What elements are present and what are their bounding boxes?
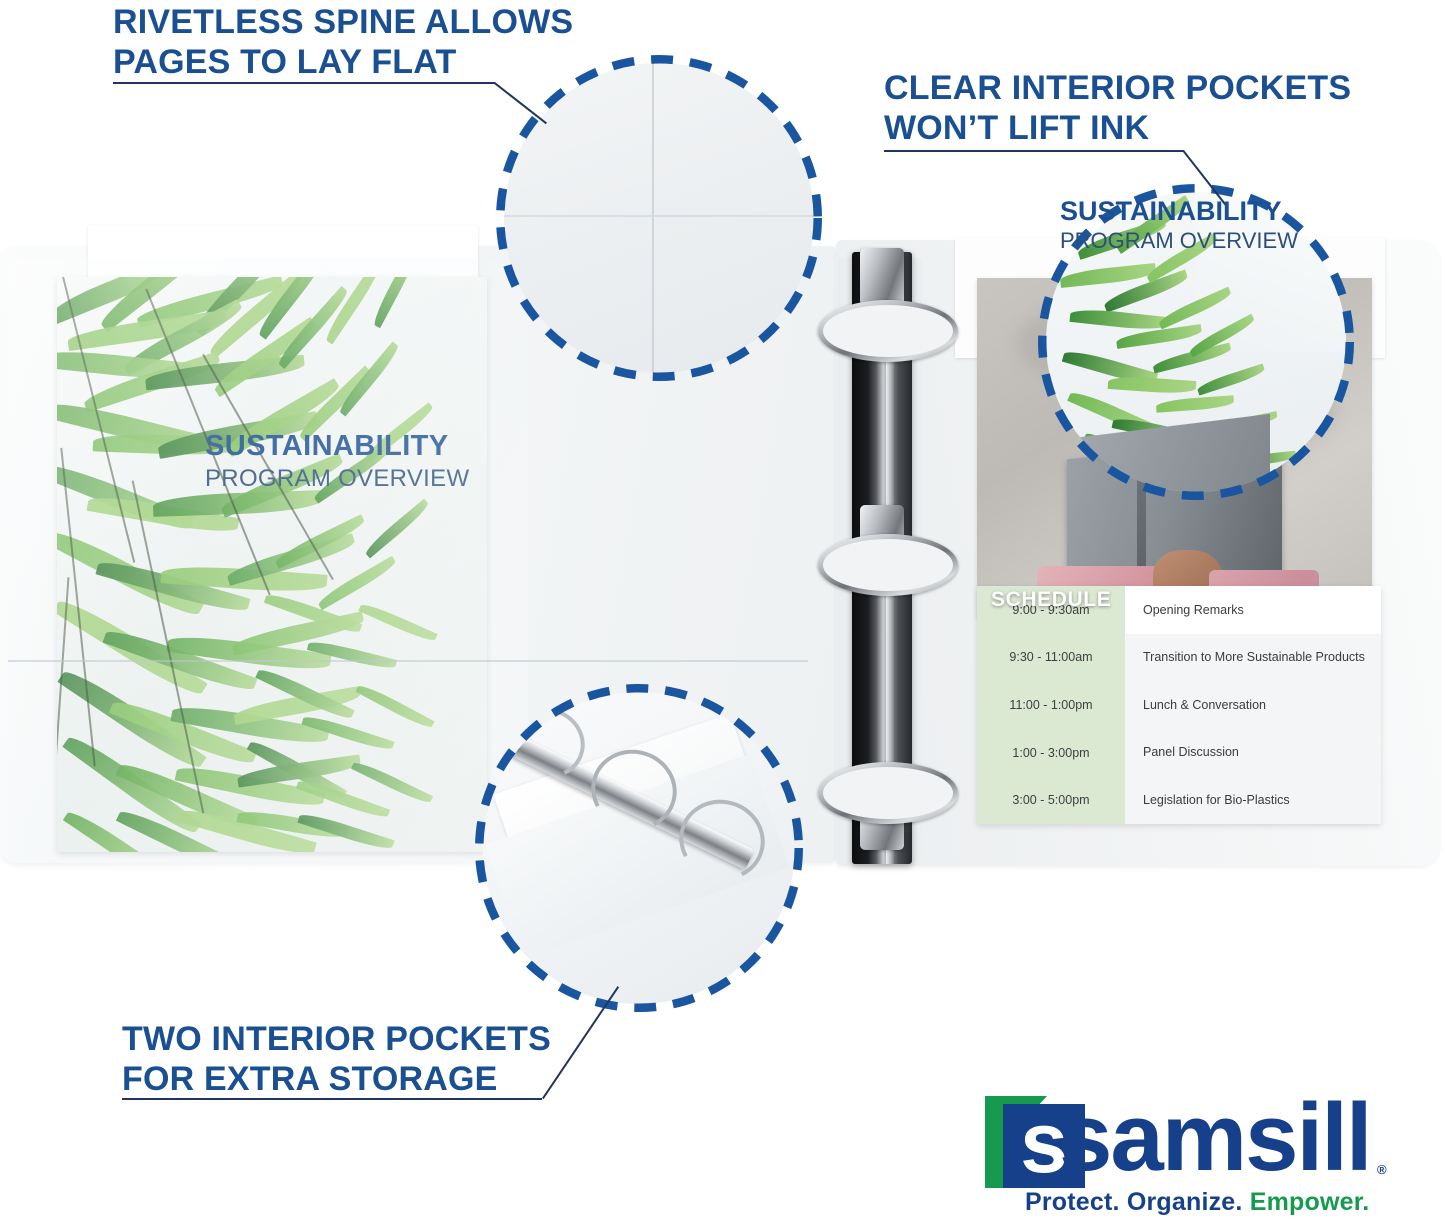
- leader-line-top-left-angle: [494, 82, 547, 124]
- callout-label-two-pockets: TWO INTERIOR POCKETS FOR EXTRA STORAGE: [122, 1019, 551, 1099]
- leader-line-top-left: [113, 82, 495, 84]
- logo-registered-mark: ®: [1377, 1162, 1387, 1177]
- schedule-table: 9:00 - 9:30amOpening Remarks9:30 - 11:00…: [977, 586, 1381, 824]
- callout-label-clear-pockets: CLEAR INTERIOR POCKETS WON’T LIFT INK: [884, 68, 1351, 148]
- right-page-title-line2: PROGRAM OVERVIEW: [1060, 228, 1298, 254]
- schedule-time: 11:00 - 1:00pm: [977, 681, 1125, 729]
- schedule-row: 1:00 - 3:00pmPanel Discussion: [977, 729, 1381, 777]
- cover-title: SUSTAINABILITY PROGRAM OVERVIEW: [205, 430, 475, 493]
- dashed-circle-bottom-center: [475, 684, 803, 1012]
- right-page-title-line1: SUSTAINABILITY: [1060, 196, 1298, 227]
- ring-clip-top: [860, 248, 904, 306]
- binder-ring-3: [818, 762, 958, 824]
- schedule-item: Transition to More Sustainable Products: [1125, 634, 1381, 682]
- callout-label-rivetless-spine: RIVETLESS SPINE ALLOWS PAGES TO LAY FLAT: [113, 2, 573, 82]
- schedule-item: Panel Discussion: [1125, 729, 1381, 777]
- bamboo-leaf: [358, 601, 437, 644]
- schedule-heading: SCHEDULE: [991, 588, 1111, 612]
- bamboo-leaf: [316, 556, 398, 610]
- schedule-row: 9:30 - 11:00amTransition to More Sustain…: [977, 634, 1381, 682]
- bamboo-artwork: [57, 277, 487, 852]
- binder-ring-1: [818, 300, 958, 362]
- left-cover-insert: SUSTAINABILITY PROGRAM OVERVIEW: [57, 277, 487, 852]
- leader-line-bottom-left-angle: [542, 986, 619, 1099]
- cover-title-line1: SUSTAINABILITY: [205, 430, 475, 463]
- schedule-item: Lunch & Conversation: [1125, 681, 1381, 729]
- samsill-logo: s samsill ® Protect. Organize. Empower.: [985, 1096, 1405, 1221]
- schedule-card: 9:00 - 9:30amOpening Remarks9:30 - 11:00…: [977, 586, 1381, 824]
- schedule-item: Opening Remarks: [1125, 586, 1381, 634]
- bamboo-leaf: [363, 499, 431, 559]
- bamboo-leaf: [336, 341, 402, 416]
- bamboo-leaf: [355, 682, 434, 731]
- binder-ring-2: [818, 534, 958, 596]
- product-feature-image: SUSTAINABILITY PROGRAM OVERVIEW 9:00 - 9…: [0, 0, 1445, 1227]
- schedule-time: 3:00 - 5:00pm: [977, 776, 1125, 824]
- schedule-item: Legislation for Bio-Plastics: [1125, 776, 1381, 824]
- schedule-time: 1:00 - 3:00pm: [977, 729, 1125, 777]
- logo-tagline-blue: Protect. Organize.: [1025, 1188, 1243, 1216]
- pocket-edge-line: [8, 660, 808, 662]
- logo-tagline-green: Empower.: [1250, 1188, 1370, 1216]
- schedule-row: 3:00 - 5:00pmLegislation for Bio-Plastic…: [977, 776, 1381, 824]
- bamboo-leaf: [370, 277, 419, 328]
- right-page-title: SUSTAINABILITY PROGRAM OVERVIEW: [1060, 196, 1298, 254]
- schedule-row: 11:00 - 1:00pmLunch & Conversation: [977, 681, 1381, 729]
- schedule-time: 9:30 - 11:00am: [977, 634, 1125, 682]
- leader-line-top-right: [884, 150, 1184, 152]
- dashed-circle-top-center: [496, 55, 822, 381]
- logo-tagline: Protect. Organize. Empower.: [1025, 1188, 1405, 1217]
- logo-wordmark: samsill: [1059, 1090, 1371, 1186]
- cover-title-line2: PROGRAM OVERVIEW: [205, 465, 475, 493]
